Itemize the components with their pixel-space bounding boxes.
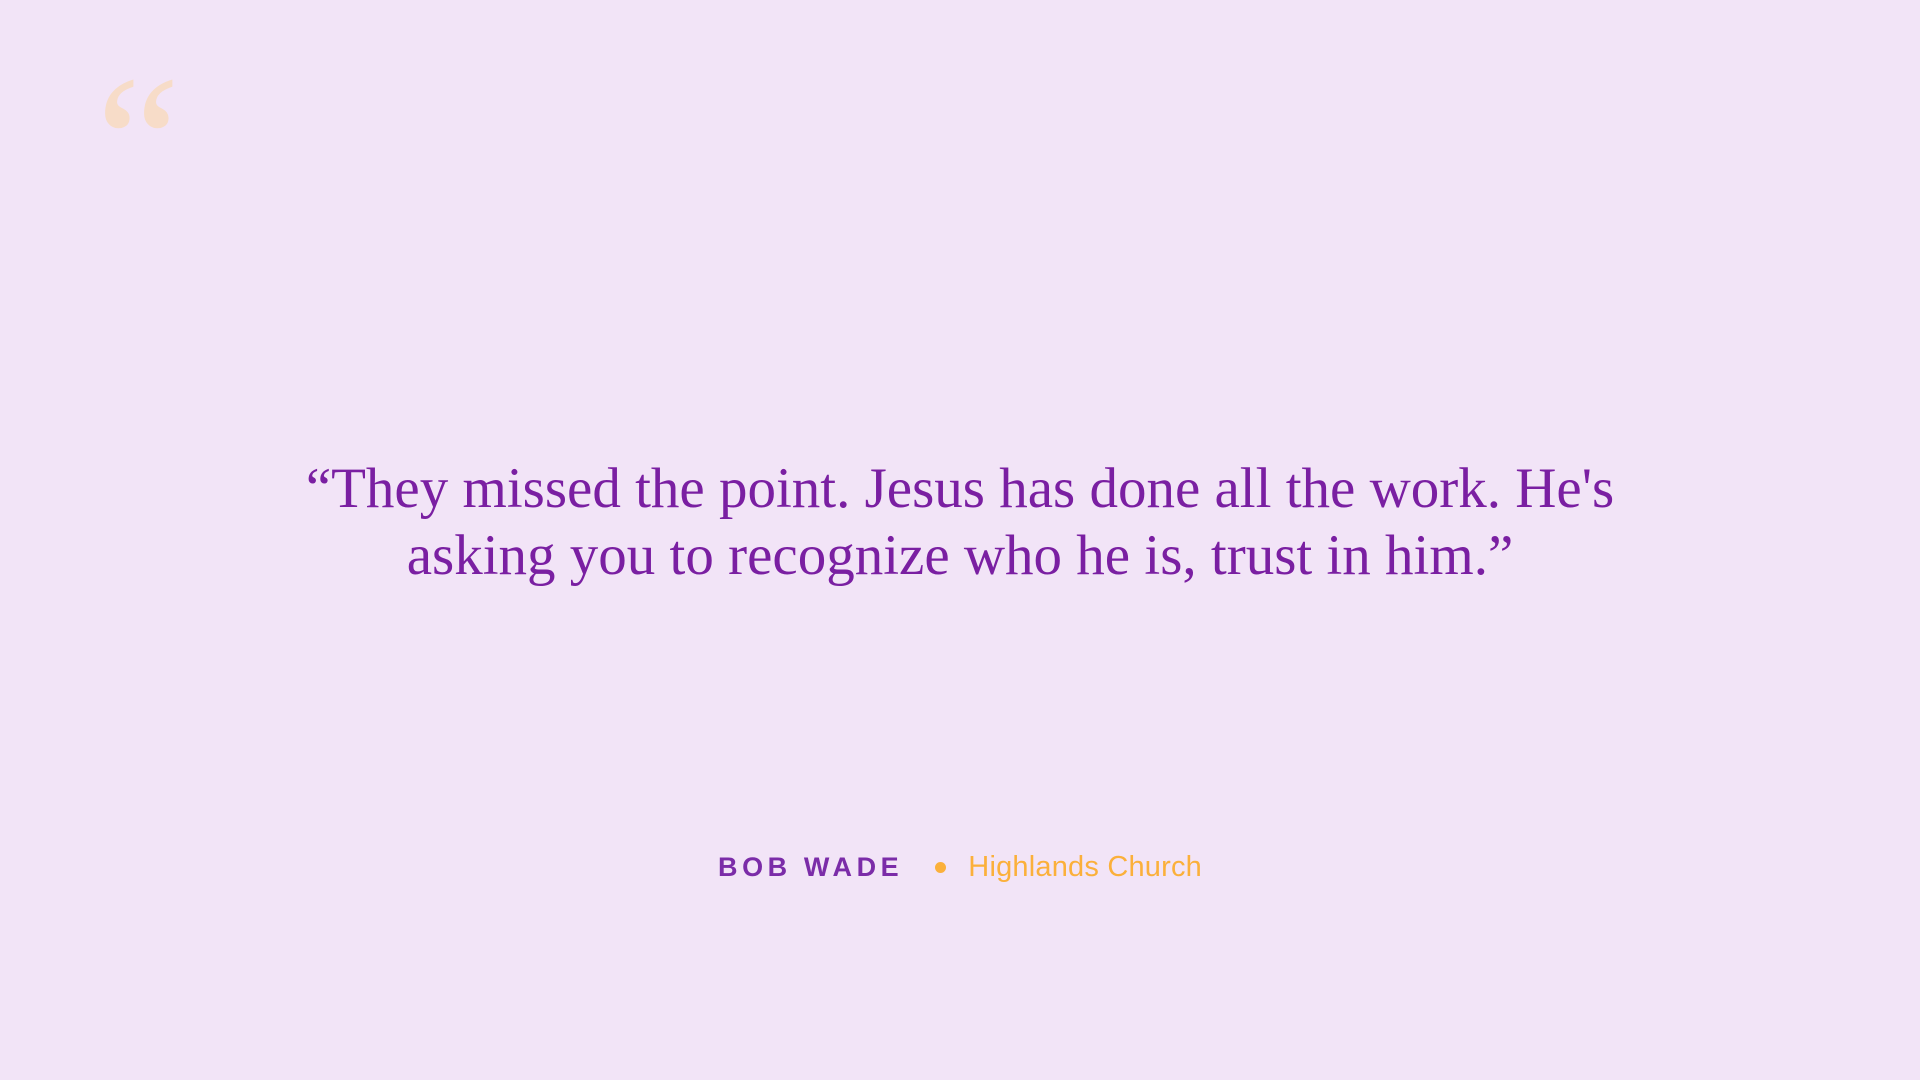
decorative-quote-icon: “ xyxy=(96,48,174,238)
quote-text: “They missed the point. Jesus has done a… xyxy=(290,455,1630,590)
quote-block: “They missed the point. Jesus has done a… xyxy=(0,455,1920,590)
quote-line-1: “They missed the point. Jesus has done a… xyxy=(306,457,1614,520)
separator-dot-icon xyxy=(935,862,946,873)
author-name: BOB WADE xyxy=(718,852,903,883)
attribution: BOB WADE Highlands Church xyxy=(0,851,1920,884)
quote-card: “ “They missed the point. Jesus has done… xyxy=(0,0,1920,1080)
quote-line-2: asking you to recognize who he is, trust… xyxy=(407,524,1514,587)
organization-name: Highlands Church xyxy=(968,851,1202,884)
